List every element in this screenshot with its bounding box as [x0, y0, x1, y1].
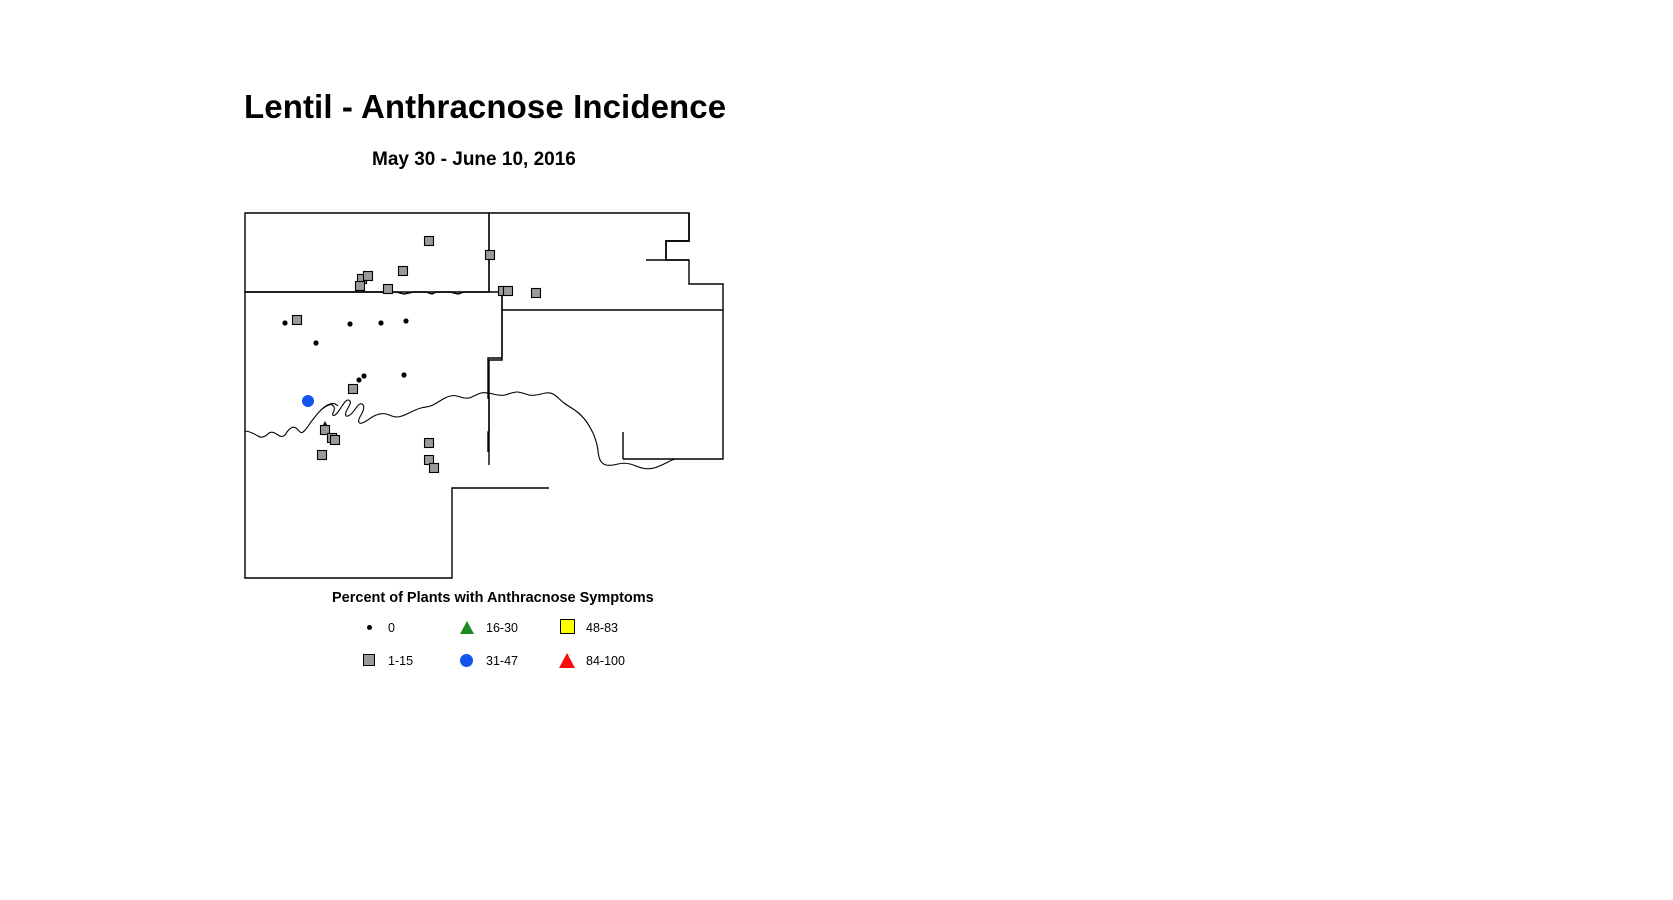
map-data-point — [430, 464, 439, 473]
map-data-point — [364, 272, 373, 281]
yellow-square-icon — [558, 617, 580, 639]
legend: Percent of Plants with Anthracnose Sympt… — [330, 590, 730, 685]
map-data-point — [403, 318, 408, 323]
map-data-point — [486, 251, 495, 260]
boundary-northeast-step — [646, 213, 689, 260]
map-data-point — [282, 320, 287, 325]
map-data-point — [504, 287, 513, 296]
boundary-mid-horizontal-line — [245, 292, 502, 294]
map-data-point — [313, 340, 318, 345]
gray-square-icon — [360, 650, 382, 672]
boundary-southwest-block — [245, 292, 549, 578]
map-graphic — [236, 200, 756, 600]
map-data-point — [384, 285, 393, 294]
map-boundaries — [245, 213, 723, 578]
green-triangle-icon — [458, 617, 480, 639]
legend-row: 0 16-30 48-83 — [330, 617, 730, 647]
map-data-point — [361, 373, 366, 378]
map-data-point — [347, 321, 352, 326]
map-data-point — [399, 267, 408, 276]
legend-item-label: 84-100 — [586, 654, 625, 668]
legend-row: 1-15 31-47 84-100 — [330, 650, 730, 680]
map-canvas — [236, 200, 756, 600]
boundary-central-vertical — [488, 310, 502, 452]
map-data-point — [331, 436, 340, 445]
boundary-far-east-county — [623, 310, 723, 459]
map-data-point — [425, 439, 434, 448]
legend-item-label: 16-30 — [486, 621, 518, 635]
map-data-point — [378, 320, 383, 325]
map-data-point — [401, 372, 406, 377]
legend-item-label: 31-47 — [486, 654, 518, 668]
page-title: Lentil - Anthracnose Incidence — [244, 88, 726, 126]
river-branch-path — [320, 404, 338, 411]
legend-item-label: 48-83 — [586, 621, 618, 635]
page-subtitle: May 30 - June 10, 2016 — [372, 149, 576, 171]
boundary-north-central-block — [489, 213, 689, 260]
map-data-point — [318, 451, 327, 460]
blue-circle-icon — [458, 650, 480, 672]
map-data-point — [356, 282, 365, 291]
map-data-point — [349, 385, 358, 394]
boundary-east-lower — [489, 310, 502, 465]
small-black-dot-icon — [360, 617, 382, 639]
map-data-point — [532, 289, 541, 298]
map-data-point — [356, 377, 361, 382]
map-data-point — [293, 316, 302, 325]
red-triangle-icon — [558, 650, 580, 672]
legend-item-label: 0 — [388, 621, 395, 635]
legend-item-label: 1-15 — [388, 654, 413, 668]
map-data-point — [302, 395, 314, 407]
map-figure: Lentil - Anthracnose Incidence May 30 - … — [0, 0, 1673, 900]
map-data-point — [425, 237, 434, 246]
legend-title: Percent of Plants with Anthracnose Sympt… — [332, 590, 654, 606]
